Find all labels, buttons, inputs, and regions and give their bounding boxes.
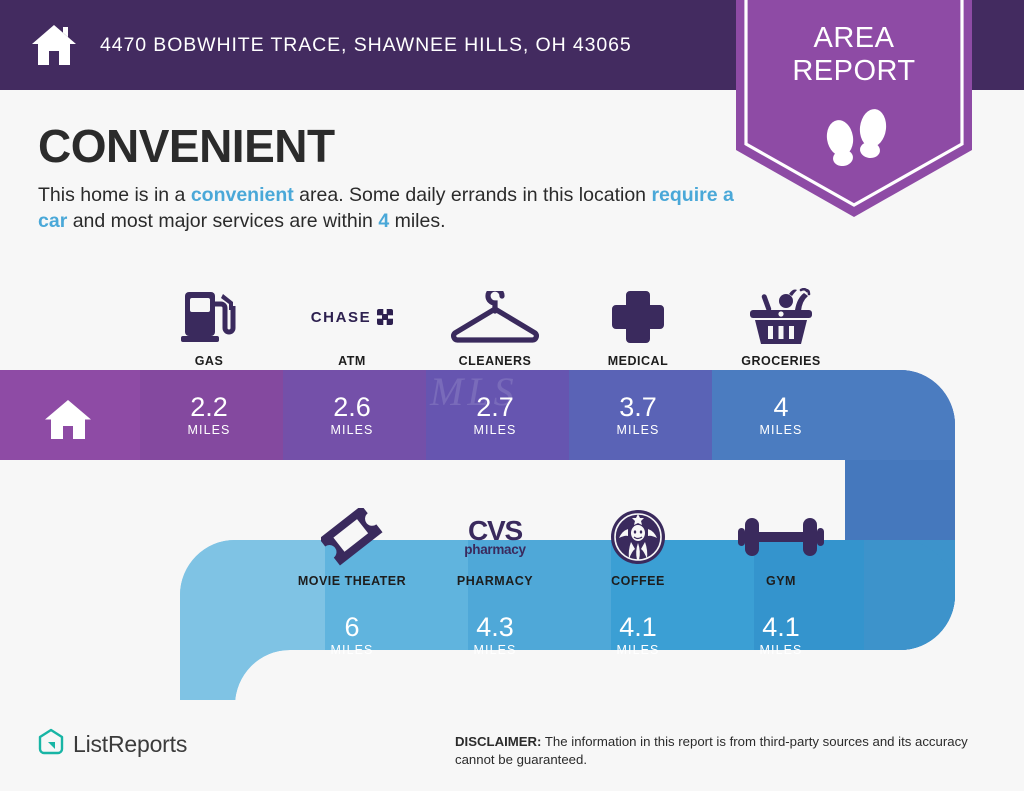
clothes-hanger-icon xyxy=(449,286,541,348)
listreports-wordmark: ListReports xyxy=(73,731,187,758)
page-title: CONVENIENT xyxy=(38,120,738,172)
gas-pump-icon xyxy=(179,286,239,348)
cvs-subword: pharmacy xyxy=(464,543,525,557)
listreports-logo[interactable]: ListReports xyxy=(38,728,187,761)
amenity-label: ATM xyxy=(338,354,366,368)
desc-text-2: area. Some daily errands in this locatio… xyxy=(294,184,652,206)
disclaimer-label: DISCLAIMER: xyxy=(455,734,541,749)
disclaimer: DISCLAIMER: The information in this repo… xyxy=(455,733,995,769)
amenity-coffee: COFFEE xyxy=(567,488,709,588)
amenity-label: PHARMACY xyxy=(457,574,533,588)
cvs-logo-icon: CVS pharmacy xyxy=(464,506,525,568)
property-address: 4470 BOBWHITE TRACE, SHAWNEE HILLS, OH 4… xyxy=(100,34,632,57)
chase-logo-icon: CHASE xyxy=(311,286,394,348)
amenity-icon-row-2: MOVIE THEATER CVS pharmacy PHARMACY xyxy=(0,488,1024,588)
amenity-cleaners: CLEANERS xyxy=(424,268,566,368)
amenity-label: CLEANERS xyxy=(459,354,532,368)
amenity-groceries: GROCERIES xyxy=(710,268,852,368)
amenity-label: MEDICAL xyxy=(608,354,668,368)
movie-ticket-icon xyxy=(321,506,383,568)
amenity-movie-theater: MOVIE THEATER xyxy=(281,488,423,588)
amenity-label: GROCERIES xyxy=(741,354,821,368)
page-description: This home is in a convenient area. Some … xyxy=(38,182,738,234)
starbucks-logo-icon xyxy=(610,506,666,568)
title-block: CONVENIENT This home is in a convenient … xyxy=(38,120,738,234)
cvs-wordmark: CVS xyxy=(464,517,525,545)
desc-text-3: and most major services are within xyxy=(67,210,378,232)
desc-text-1: This home is in a xyxy=(38,184,191,206)
amenity-label: GYM xyxy=(766,574,796,588)
desc-text-4: miles. xyxy=(389,210,445,232)
home-marker-icon xyxy=(44,397,92,446)
medical-cross-icon xyxy=(610,286,666,348)
desc-highlight-3: 4 xyxy=(378,210,389,232)
desc-highlight-1: convenient xyxy=(191,184,294,206)
amenity-label: COFFEE xyxy=(611,574,665,588)
amenity-medical: MEDICAL xyxy=(567,268,709,368)
chase-wordmark: CHASE xyxy=(311,309,372,326)
amenity-pharmacy: CVS pharmacy PHARMACY xyxy=(424,488,566,588)
area-report-banner: AREA REPORT xyxy=(736,0,972,217)
grocery-basket-icon xyxy=(748,286,814,348)
amenity-gym: GYM xyxy=(710,488,852,588)
house-icon xyxy=(30,21,78,69)
ribbon-row-1-segments xyxy=(0,370,955,460)
amenity-gas: GAS xyxy=(138,268,280,368)
amenity-icon-row-1: GAS CHASE ATM CLEANERS xyxy=(0,268,1024,368)
amenity-atm: CHASE ATM xyxy=(281,268,423,368)
dumbbell-icon xyxy=(738,506,824,568)
amenity-label: MOVIE THEATER xyxy=(298,574,406,588)
amenity-label: GAS xyxy=(195,354,224,368)
listreports-house-tag-icon xyxy=(38,728,64,761)
